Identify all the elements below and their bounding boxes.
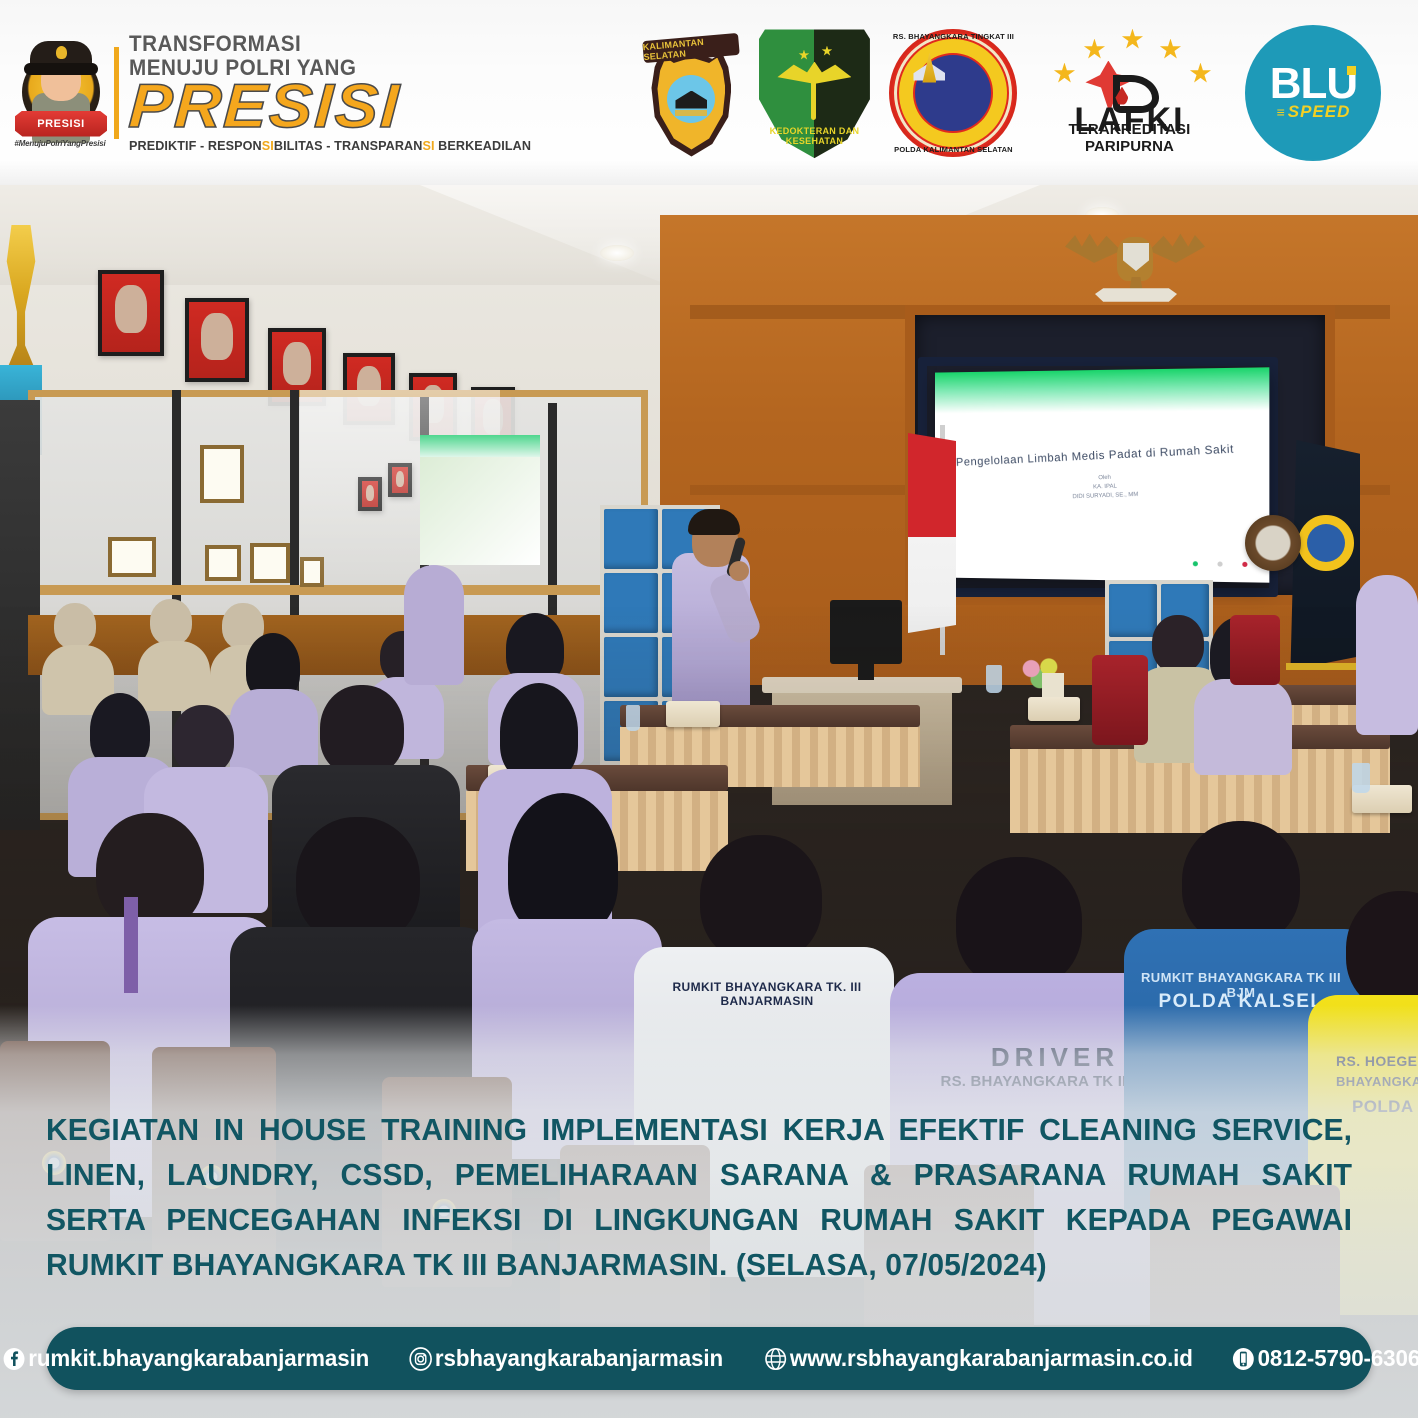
presisi-line-1: TRANSFORMASI [129,32,519,56]
footer-phone[interactable]: 0812-5790-6306 [1232,1345,1418,1372]
rs-badge-bottom-text: POLDA KALIMANTAN SELATAN [889,145,1017,154]
facebook-icon [3,1347,26,1371]
footer-phone-label: 0812-5790-6306 [1257,1345,1418,1372]
presisi-tagline: PREDIKTIF - RESPONSIBILITAS - TRANSPARAN… [129,138,531,153]
presisi-mascot-icon: PRESISI #MenujuPolriYangPresisi [10,23,110,163]
kedokteran-kesehatan-shield-logo: KEDOKTERAN DAN KESEHATAN [755,26,873,160]
whatsapp-icon [1232,1347,1255,1371]
blu-speed-logo: BLU SPEED [1245,25,1381,161]
garuda-emblem-icon [1065,225,1205,311]
caption-text: KEGIATAN IN HOUSE TRAINING IMPLEMENTASI … [46,1108,1352,1288]
presisi-divider [114,47,119,139]
polda-kalsel-shield-logo: KALIMANTAN SELATAN [641,23,741,163]
rs-badge-top-text: RS. BHAYANGKARA TINGKAT III [889,32,1017,41]
instagram-icon [409,1347,432,1371]
footer-facebook[interactable]: rumkit.bhayangkarabanjarmasin [3,1345,370,1372]
globe-icon [765,1347,788,1371]
kedokteran-caption: KEDOKTERAN DAN KESEHATAN [765,104,863,150]
shirt-text-yellow-line1: RS. HOEGENG [1336,1053,1418,1069]
presisi-logo: PRESISI #MenujuPolriYangPresisi TRANSFOR… [10,23,543,163]
slide-title: Pengelolaan Limbah Medis Padat di Rumah … [956,442,1255,468]
footer-instagram-label: rsbhayangkarabanjarmasin [435,1345,723,1372]
mascot-badge-label: PRESISI [37,118,85,130]
footer-website[interactable]: www.rsbhayangkarabanjarmasin.co.id [765,1345,1194,1372]
blu-title: BLU [1270,59,1357,108]
shirt-text-yellow-line2: BHAYANGKARA [1336,1075,1418,1090]
lafki-logo: LAFKI TERAKREDITASI PARIPURNA [1029,23,1229,163]
shirt-text-white: RUMKIT BHAYANGKARA TK. IIIBANJARMASIN [672,981,862,1009]
footer-website-label: www.rsbhayangkarabanjarmasin.co.id [790,1345,1193,1372]
footer-facebook-label: rumkit.bhayangkarabanjarmasin [29,1345,370,1372]
wall-clock-icon [1245,515,1301,571]
lafki-subtitle: TERAKREDITASI PARIPURNA [1029,121,1229,155]
slide-subtitle: Oleh KA. IPAL DIDI SURYADI, SE., MM [992,469,1222,504]
projector-screen: Pengelolaan Limbah Medis Padat di Rumah … [935,367,1269,582]
presisi-hashtag: #MenujuPolriYangPresisi [10,139,110,148]
contact-footer-bar: rumkit.bhayangkarabanjarmasin rsbhayangk… [46,1327,1372,1390]
header-logo-bar: PRESISI #MenujuPolriYangPresisi TRANSFOR… [0,0,1418,185]
caption-block: KEGIATAN IN HOUSE TRAINING IMPLEMENTASI … [0,1108,1418,1288]
indonesia-flag [908,433,956,633]
rs-bhayangkara-badge-logo: RS. BHAYANGKARA TINGKAT III POLDA KALIMA… [889,29,1017,157]
presisi-wordmark: PRESISI [127,78,565,136]
kalsel-banner-label: KALIMANTAN SELATAN [643,33,740,61]
footer-instagram[interactable]: rsbhayangkarabanjarmasin [409,1345,723,1372]
